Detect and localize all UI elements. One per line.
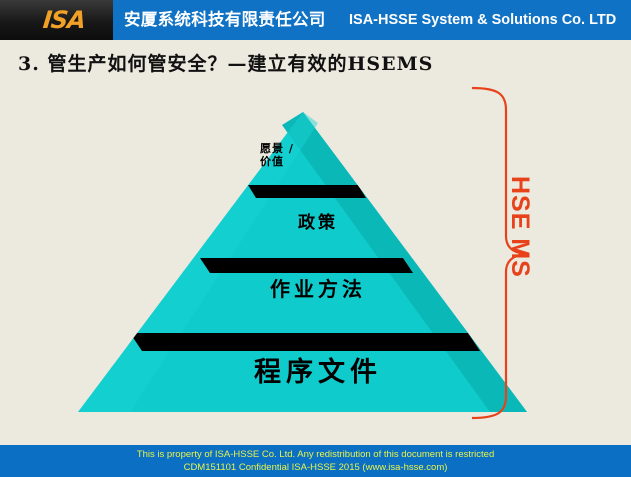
slide-title: 3. 管生产如何管安全？—建立有效的HSEMS: [18, 49, 433, 76]
footer-confidential-line: CDM151101 Confidential ISA-HSSE 2015 (ww…: [0, 461, 631, 474]
header-company-name-cn: 安厦系统科技有限责任公司: [124, 8, 326, 32]
pyramid-divider-1: [248, 185, 366, 198]
pyramid-divider-2: [200, 258, 413, 273]
header-company-name-en: ISA-HSSE System & Solutions Co. LTD: [349, 9, 616, 32]
footer-copyright-line: This is property of ISA-HSSE Co. Ltd. An…: [0, 448, 631, 461]
isa-logo: ISA: [23, 7, 106, 33]
pyramid-level-label-procedures: 程序文件: [178, 357, 458, 388]
pyramid-level-label-methods: 作业方法: [198, 278, 438, 301]
pyramid-level-label-vision: 愿景 / 价值: [260, 143, 370, 168]
slide-header: ISA 安厦系统科技有限责任公司 ISA-HSSE System & Solut…: [0, 0, 631, 40]
pyramid-level-label-policy: 政策: [238, 214, 398, 234]
slide-canvas: ISA 安厦系统科技有限责任公司 ISA-HSSE System & Solut…: [0, 0, 631, 477]
hse-ms-label: HSE MS: [505, 176, 534, 278]
pyramid-divider-3: [130, 333, 480, 351]
slide-footer: This is property of ISA-HSSE Co. Ltd. An…: [0, 445, 631, 477]
